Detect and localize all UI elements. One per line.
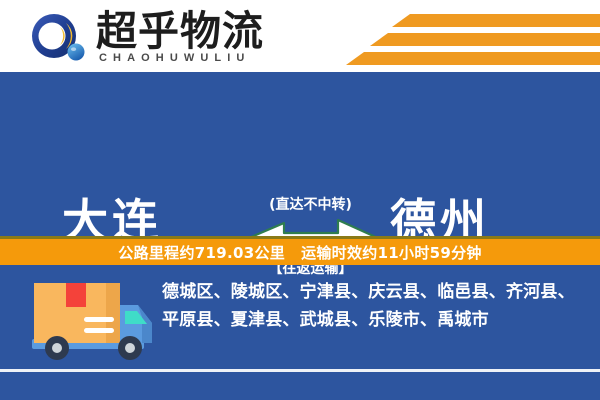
brand-name-en: CHAOHUWULIU <box>99 52 250 64</box>
route-info-bar: 公路里程约719.03公里运输时效约11小时59分钟 <box>0 236 600 265</box>
duration-label: 运输时效约11小时59分钟 <box>301 244 482 262</box>
header-stripe-middle <box>370 33 600 46</box>
route-note-direct: (直达不中转) <box>248 194 373 214</box>
header-stripe-top <box>392 14 600 27</box>
route-info-text: 公路里程约719.03公里运输时效约11小时59分钟 <box>118 242 481 263</box>
brand-name-cn: 超乎物流 <box>96 9 264 53</box>
distance-label: 公路里程约719.03公里 <box>118 244 285 262</box>
coverage-line-1: 德城区、陵城区、宁津县、庆云县、临邑县、齐河县、 <box>162 278 586 306</box>
route-section: 大连 (直达不中转) 【往返运输】 德州 <box>0 72 600 236</box>
delivery-truck-icon <box>28 277 156 369</box>
company-logo-icon <box>26 12 96 64</box>
logistics-route-banner: 超乎物流 CHAOHUWULIU 大连 (直达不中转) 【往返运输】 德州 公路… <box>0 0 600 400</box>
coverage-line-2: 平原县、夏津县、武城县、乐陵市、禹城市 <box>162 306 586 334</box>
banner-header: 超乎物流 CHAOHUWULIU <box>0 0 600 72</box>
coverage-area-list: 德城区、陵城区、宁津县、庆云县、临邑县、齐河县、 平原县、夏津县、武城县、乐陵市… <box>162 278 586 334</box>
header-stripe-bottom <box>346 52 600 65</box>
road-line <box>0 369 600 372</box>
